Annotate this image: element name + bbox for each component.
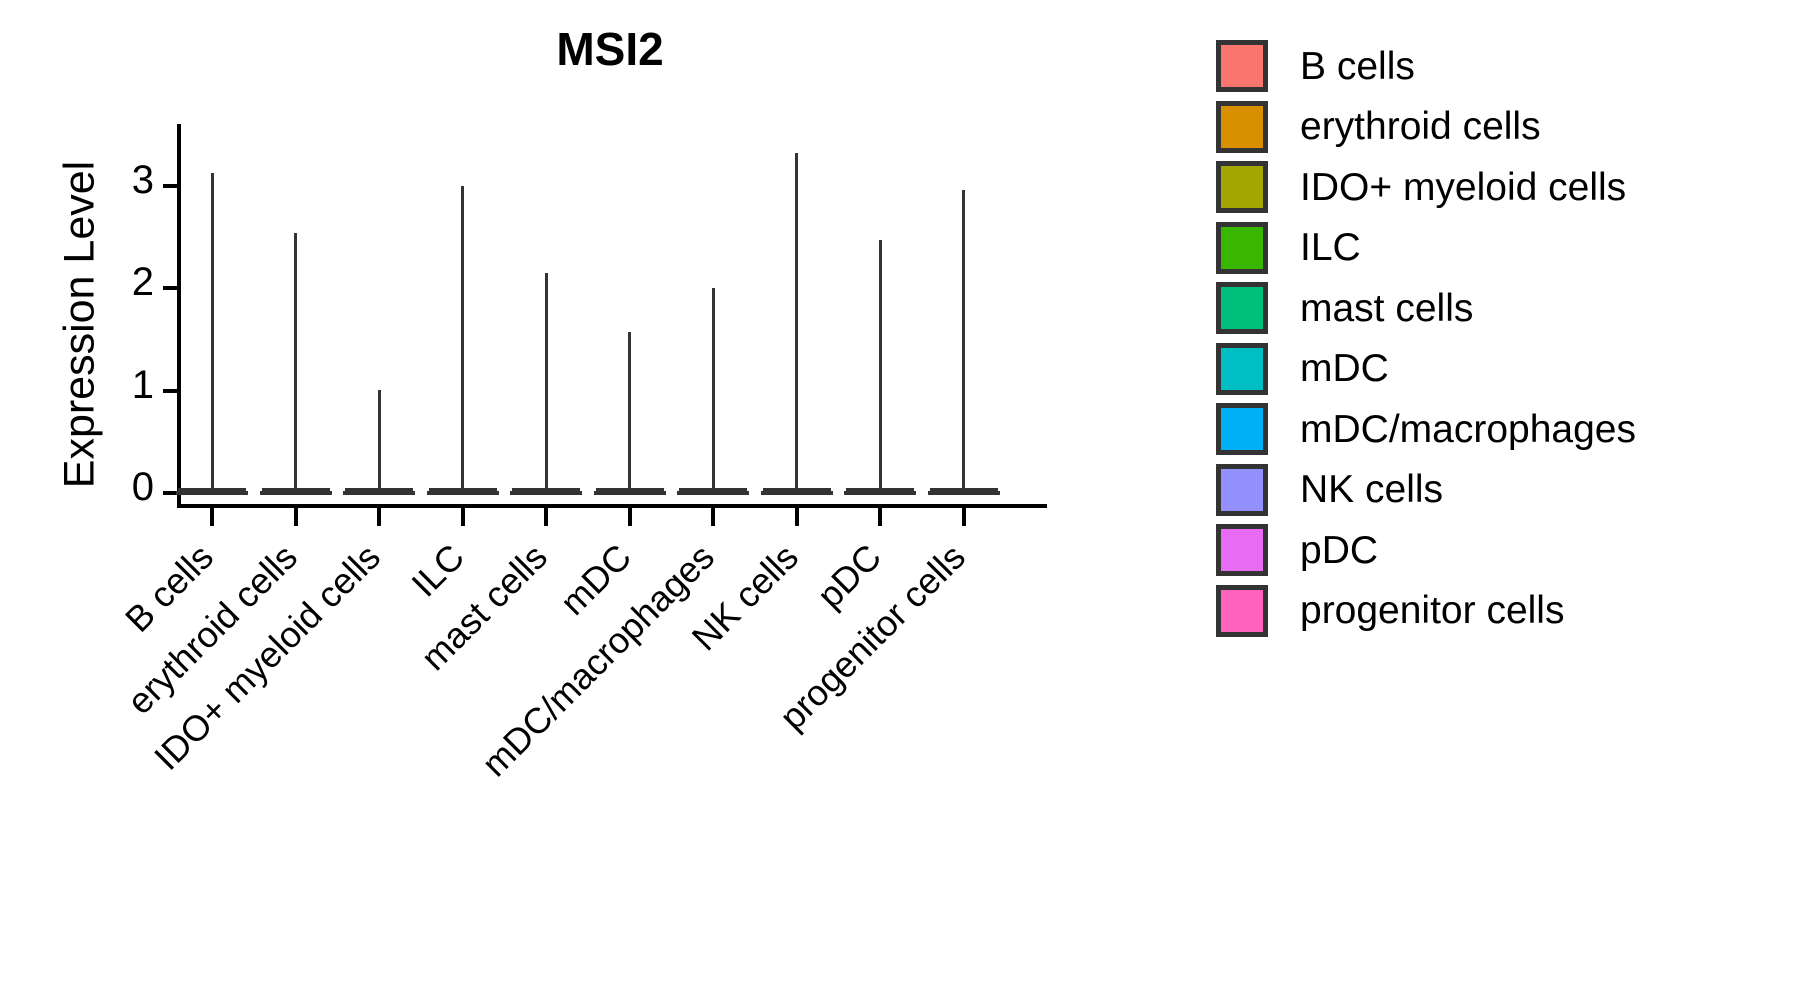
violin-body xyxy=(260,491,332,495)
y-tick-label: 1 xyxy=(88,365,154,405)
violin-tail xyxy=(879,240,882,493)
legend-color-swatch xyxy=(1216,222,1268,274)
violin-tail xyxy=(211,173,214,493)
legend-item-label: B cells xyxy=(1300,47,1415,86)
y-tick-mark xyxy=(163,491,177,495)
y-tick-label-text: 0 xyxy=(94,467,154,507)
y-tick-mark xyxy=(163,184,177,188)
x-tick-mark xyxy=(544,508,548,526)
violin-tail xyxy=(628,332,631,493)
violin-body-inner xyxy=(846,488,914,491)
legend-color-swatch xyxy=(1216,282,1268,334)
violin-body-inner xyxy=(763,488,831,491)
violin-body xyxy=(343,491,415,495)
x-tick-mark xyxy=(878,508,882,526)
x-tick-mark xyxy=(377,508,381,526)
y-tick-label: 0 xyxy=(88,467,154,507)
y-tick-label-text: 3 xyxy=(94,160,154,200)
violin-tail xyxy=(962,190,965,493)
page-title: MSI2 xyxy=(330,26,890,72)
legend-item[interactable]: mast cells xyxy=(1216,278,1636,339)
violin-body xyxy=(594,491,666,495)
violin-plot-figure: MSI2 Expression Level 0123 B cellserythr… xyxy=(0,0,1795,1002)
x-tick-mark xyxy=(711,508,715,526)
legend-item-label: IDO+ myeloid cells xyxy=(1300,168,1626,207)
violin-body-inner xyxy=(596,488,664,491)
violin-tail xyxy=(461,186,464,493)
x-tick-mark xyxy=(294,508,298,526)
legend-color-swatch xyxy=(1216,40,1268,92)
legend-item-label: mast cells xyxy=(1300,289,1473,328)
violin-tail xyxy=(294,233,297,493)
x-tick-mark xyxy=(461,508,465,526)
legend-item[interactable]: pDC xyxy=(1216,520,1636,581)
legend-item-label: mDC xyxy=(1300,349,1389,388)
x-tick-mark xyxy=(795,508,799,526)
legend-item[interactable]: progenitor cells xyxy=(1216,581,1636,642)
violin-tail xyxy=(545,273,548,493)
violin-tail xyxy=(795,153,798,493)
y-tick-mark xyxy=(163,389,177,393)
violin-body-inner xyxy=(178,488,246,491)
legend-color-swatch xyxy=(1216,101,1268,153)
x-tick-mark xyxy=(628,508,632,526)
y-tick-label-text: 2 xyxy=(94,262,154,302)
legend-item[interactable]: ILC xyxy=(1216,218,1636,279)
y-tick-mark xyxy=(163,286,177,290)
legend-item[interactable]: NK cells xyxy=(1216,460,1636,521)
violin-body xyxy=(427,491,499,495)
legend-color-swatch xyxy=(1216,585,1268,637)
violin-body-inner xyxy=(429,488,497,491)
legend-color-swatch xyxy=(1216,464,1268,516)
y-axis-line xyxy=(177,124,181,508)
x-axis-line xyxy=(177,504,1047,508)
legend-item[interactable]: mDC xyxy=(1216,339,1636,400)
legend-item-label: progenitor cells xyxy=(1300,591,1564,630)
x-tick-mark xyxy=(210,508,214,526)
violin-body xyxy=(176,491,248,495)
violin-body xyxy=(510,491,582,495)
legend-color-swatch xyxy=(1216,403,1268,455)
legend: B cellserythroid cellsIDO+ myeloid cells… xyxy=(1216,36,1636,641)
violin-body-inner xyxy=(262,488,330,491)
violin-body-inner xyxy=(512,488,580,491)
violin-body-inner xyxy=(345,488,413,491)
legend-color-swatch xyxy=(1216,524,1268,576)
violin-body xyxy=(677,491,749,495)
legend-item[interactable]: mDC/macrophages xyxy=(1216,399,1636,460)
legend-item[interactable]: B cells xyxy=(1216,36,1636,97)
x-tick-mark xyxy=(962,508,966,526)
violin-body xyxy=(761,491,833,495)
legend-item-label: NK cells xyxy=(1300,470,1443,509)
legend-color-swatch xyxy=(1216,161,1268,213)
legend-color-swatch xyxy=(1216,343,1268,395)
violin-tail xyxy=(378,390,381,493)
legend-item[interactable]: erythroid cells xyxy=(1216,97,1636,158)
violin-body-inner xyxy=(679,488,747,491)
legend-item[interactable]: IDO+ myeloid cells xyxy=(1216,157,1636,218)
y-tick-label: 2 xyxy=(88,262,154,302)
y-tick-label-text: 1 xyxy=(94,365,154,405)
legend-item-label: pDC xyxy=(1300,531,1378,570)
legend-item-label: mDC/macrophages xyxy=(1300,410,1636,449)
legend-item-label: erythroid cells xyxy=(1300,107,1541,146)
violin-body xyxy=(844,491,916,495)
violin-body-inner xyxy=(930,488,998,491)
violin-body xyxy=(928,491,1000,495)
legend-item-label: ILC xyxy=(1300,228,1361,267)
x-tick-label: ILC xyxy=(403,536,472,605)
violin-tail xyxy=(712,288,715,493)
y-tick-label: 3 xyxy=(88,160,154,200)
